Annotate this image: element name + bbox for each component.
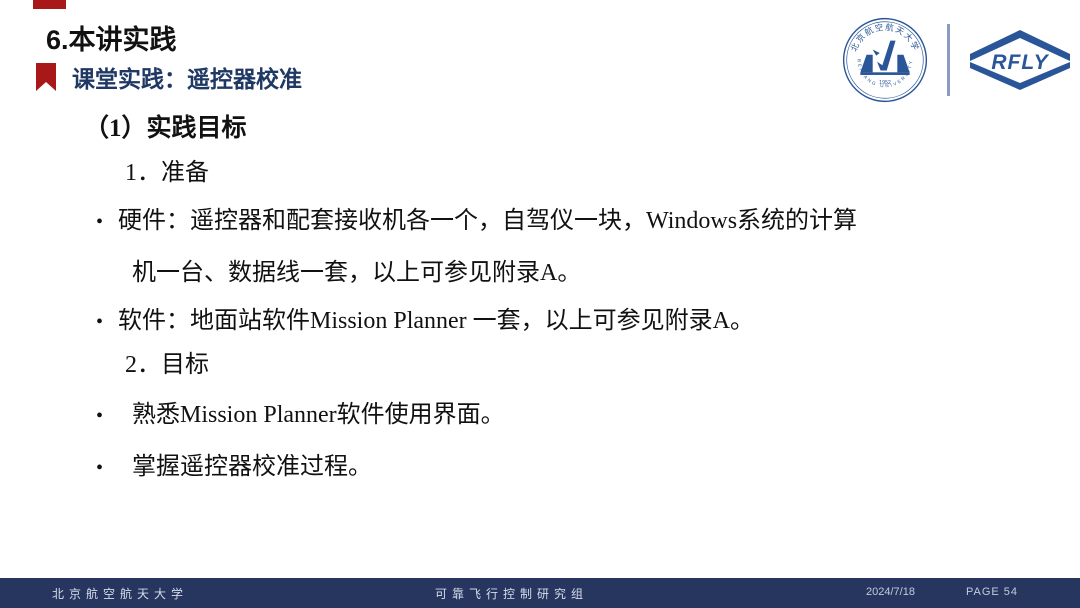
bullet-marker-icon: •: [96, 406, 132, 426]
subsection-goal: 2．目标: [125, 344, 209, 379]
bullet-software-text: 软件：地面站软件Mission Planner 一套，以上可参见附录A。: [118, 300, 754, 335]
bullet-marker-icon: •: [96, 312, 118, 332]
subsection-preparation: 1．准备: [125, 152, 209, 187]
footer-research-group: 可靠飞行控制研究组: [435, 585, 588, 602]
bullet-goal-2-text: 掌握遥控器校准过程。: [132, 446, 372, 481]
bullet-goal-1: • 熟悉Mission Planner软件使用界面。: [96, 394, 505, 429]
bullet-marker-icon: •: [96, 212, 118, 232]
slide-canvas: 6.本讲实践 课堂实践：遥控器校准 北京航空航天大学 BEIHANG UNIVE…: [0, 0, 1080, 608]
bullet-hardware-continuation: 机一台、数据线一套，以上可参见附录A。: [132, 252, 581, 287]
logo-group: 北京航空航天大学 BEIHANG UNIVERSITY 1952 RFLY: [841, 14, 1072, 106]
bullet-goal-2: • 掌握遥控器校准过程。: [96, 446, 372, 481]
svg-text:RFLY: RFLY: [991, 51, 1049, 74]
footer-university: 北京航空航天大学: [52, 585, 188, 602]
beihang-university-seal-icon: 北京航空航天大学 BEIHANG UNIVERSITY 1952: [841, 16, 929, 104]
logo-divider: [947, 24, 950, 96]
svg-text:北京航空航天大学: 北京航空航天大学: [848, 22, 921, 53]
bullet-hardware-text: 硬件：遥控器和配套接收机各一个，自驾仪一块，Windows系统的计算: [118, 200, 857, 235]
page-title: 6.本讲实践: [46, 18, 177, 57]
bullet-software: • 软件：地面站软件Mission Planner 一套，以上可参见附录A。: [96, 300, 754, 335]
footer-date: 2024/7/18: [866, 586, 915, 598]
section-subtitle: 课堂实践：遥控器校准: [72, 60, 302, 94]
bullet-marker-icon: •: [96, 458, 132, 478]
rfly-logo-icon: RFLY: [968, 28, 1072, 92]
bullet-goal-1-text: 熟悉Mission Planner软件使用界面。: [132, 394, 505, 429]
bookmark-icon: [36, 63, 56, 91]
section-label: （1）实践目标: [84, 108, 247, 144]
bullet-hardware: • 硬件：遥控器和配套接收机各一个，自驾仪一块，Windows系统的计算: [96, 200, 857, 235]
slide-footer: 北京航空航天大学 可靠飞行控制研究组 2024/7/18 PAGE 54: [0, 578, 1080, 608]
top-red-tab-decoration: [33, 0, 66, 9]
svg-text:1952: 1952: [879, 80, 891, 86]
footer-page-number: PAGE 54: [966, 586, 1018, 598]
subtitle-row: 课堂实践：遥控器校准: [36, 60, 302, 94]
